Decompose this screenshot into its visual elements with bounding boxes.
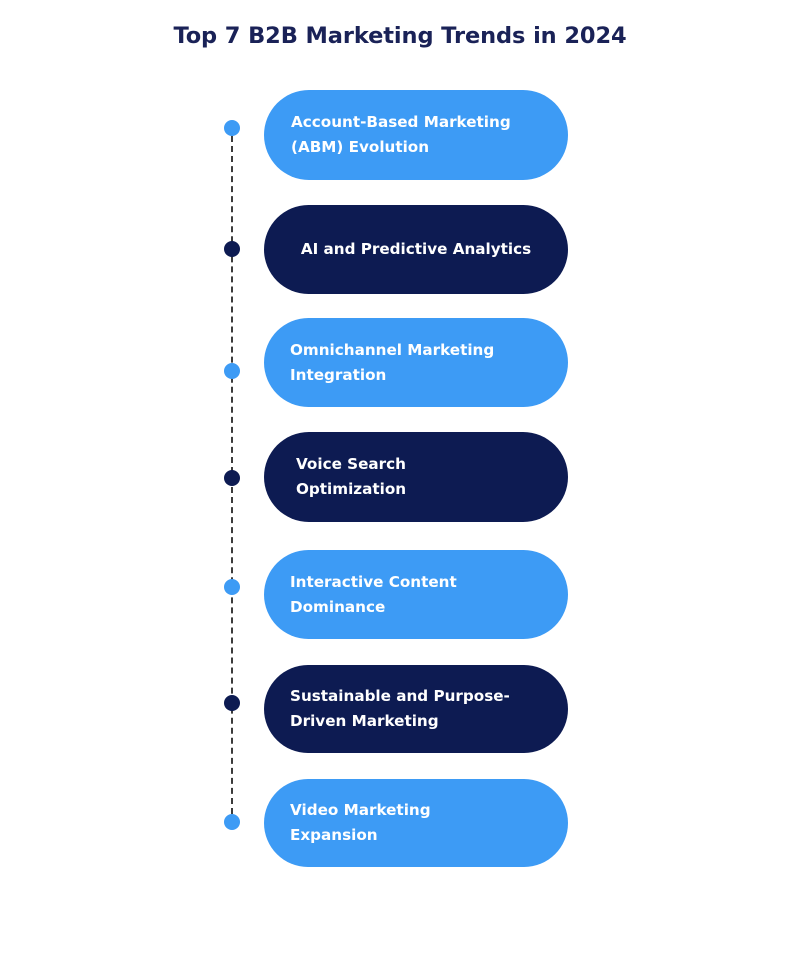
- trend-card-6-label: Sustainable and Purpose- Driven Marketin…: [290, 684, 510, 733]
- infographic-canvas: Top 7 B2B Marketing Trends in 2024 Accou…: [0, 0, 800, 978]
- trend-card-6[interactable]: Sustainable and Purpose- Driven Marketin…: [264, 665, 568, 753]
- trend-card-1[interactable]: Account-Based Marketing (ABM) Evolution: [264, 90, 568, 180]
- page-title: Top 7 B2B Marketing Trends in 2024: [0, 22, 800, 50]
- trend-card-7-label: Video Marketing Expansion: [290, 798, 431, 847]
- trend-card-5[interactable]: Interactive Content Dominance: [264, 550, 568, 639]
- timeline-dot-4: [224, 470, 240, 486]
- trend-card-3[interactable]: Omnichannel Marketing Integration: [264, 318, 568, 407]
- trend-card-3-label: Omnichannel Marketing Integration: [290, 338, 494, 387]
- timeline-dot-2: [224, 241, 240, 257]
- timeline-dot-7: [224, 814, 240, 830]
- trend-card-7[interactable]: Video Marketing Expansion: [264, 779, 568, 867]
- trend-card-1-label: Account-Based Marketing (ABM) Evolution: [291, 110, 511, 159]
- timeline-dot-5: [224, 579, 240, 595]
- timeline-dot-6: [224, 695, 240, 711]
- trend-card-5-label: Interactive Content Dominance: [290, 570, 457, 619]
- timeline-track: [230, 120, 235, 832]
- trend-card-4[interactable]: Voice Search Optimization: [264, 432, 568, 522]
- trend-card-2[interactable]: AI and Predictive Analytics: [264, 205, 568, 294]
- trend-card-2-label: AI and Predictive Analytics: [301, 237, 531, 262]
- timeline-dot-3: [224, 363, 240, 379]
- timeline-dot-1: [224, 120, 240, 136]
- trend-card-4-label: Voice Search Optimization: [296, 452, 406, 501]
